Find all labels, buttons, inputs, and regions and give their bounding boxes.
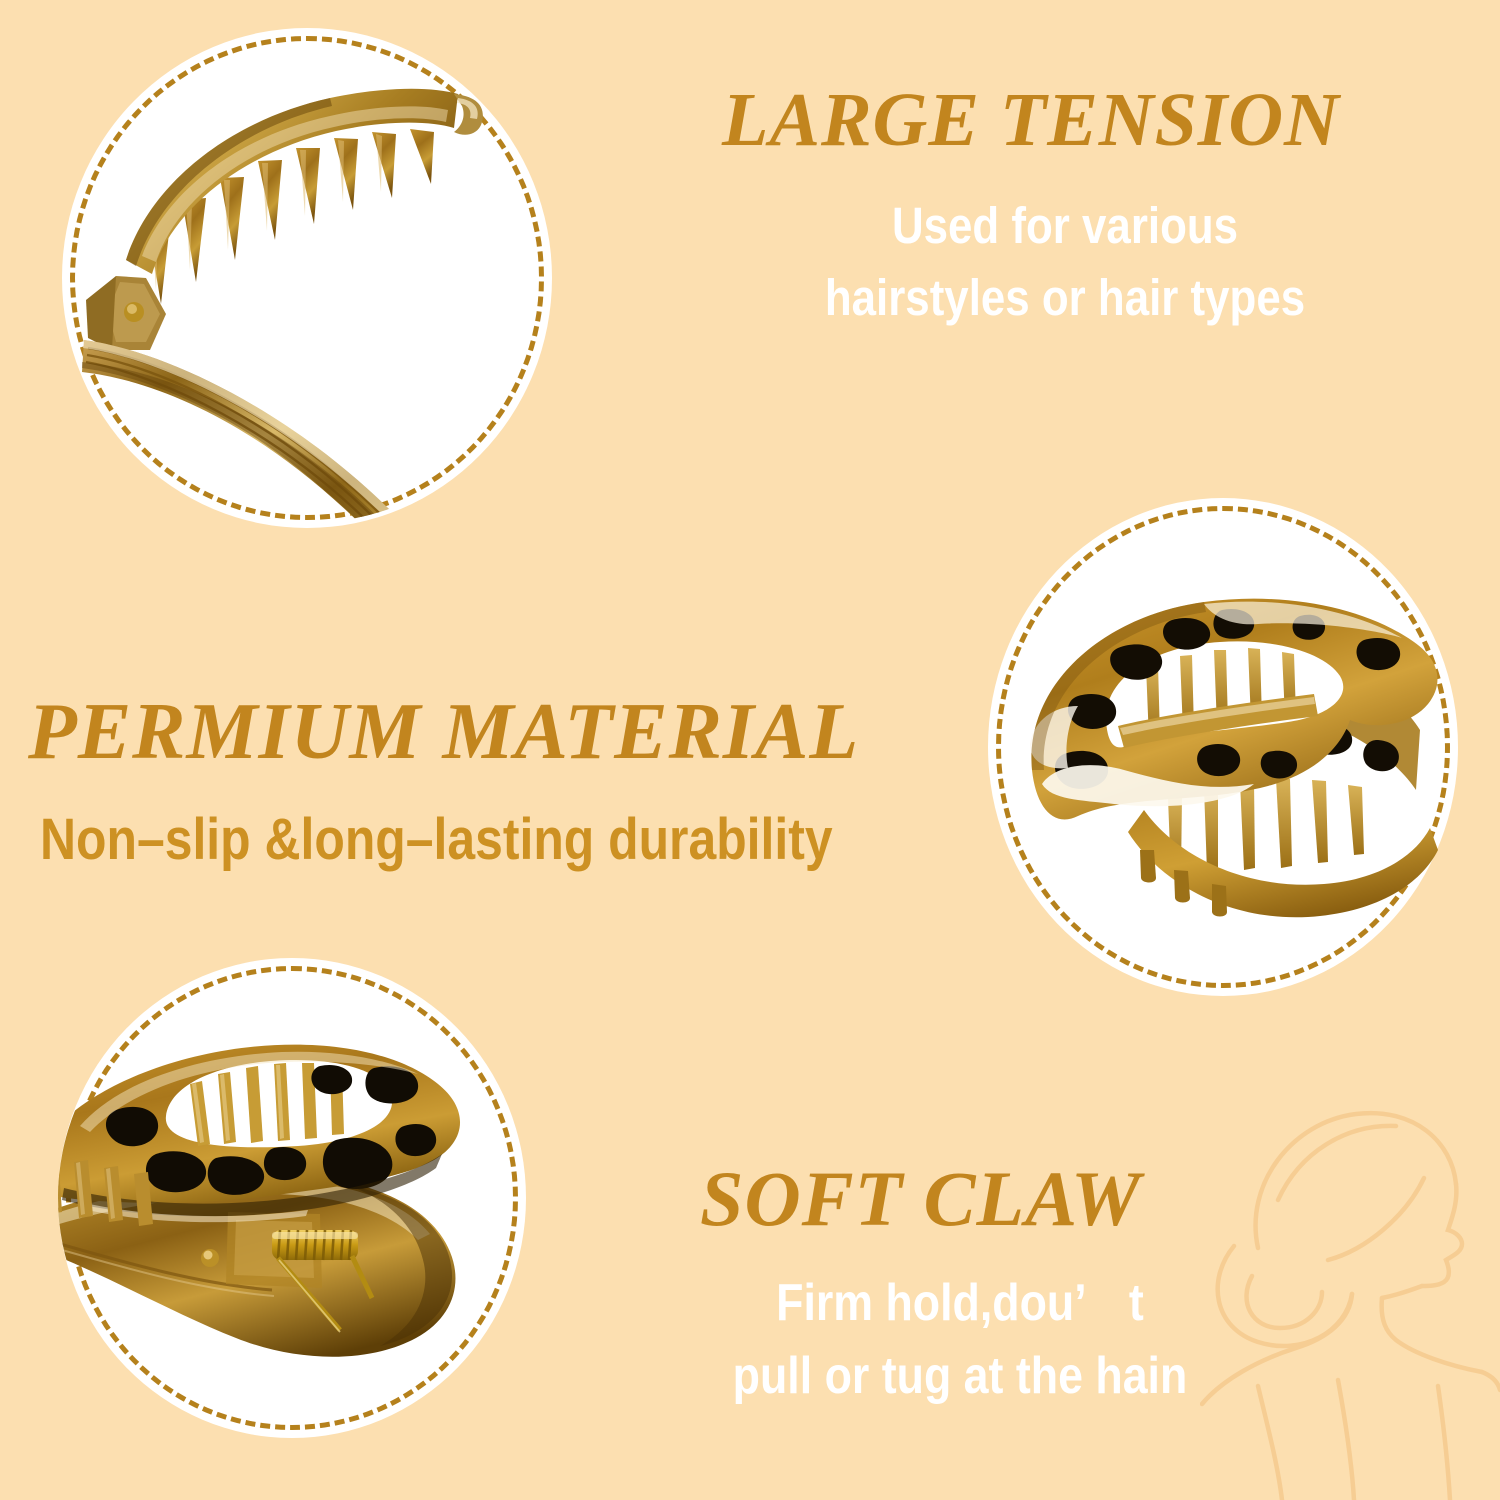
dashed-ring-border xyxy=(70,36,544,520)
heading-soft-claw: SOFT CLAW xyxy=(700,1160,1141,1238)
product-photo-open-claw xyxy=(62,28,552,528)
body-large-tension-line-2: hairstyles or hair types xyxy=(751,265,1379,330)
body-soft-claw-line-2: pull or tug at the hain xyxy=(668,1343,1253,1410)
product-photo-spring-claw xyxy=(58,958,526,1438)
heading-permium-material: PERMIUM MATERIAL xyxy=(28,692,859,772)
body-large-tension-line-1: Used for various xyxy=(751,193,1379,258)
body-permium-material-line-1: Non–slip &long–lasting durability xyxy=(40,803,833,877)
product-photo-leopard-claw xyxy=(988,498,1458,996)
heading-large-tension: LARGE TENSION xyxy=(722,82,1340,158)
infographic-page: LARGE TENSION Used for various hairstyle… xyxy=(0,0,1500,1500)
body-soft-claw-line-1: Firm hold,dou’ t xyxy=(668,1270,1253,1337)
dashed-ring-border xyxy=(66,966,518,1430)
dashed-ring-border xyxy=(996,506,1450,988)
